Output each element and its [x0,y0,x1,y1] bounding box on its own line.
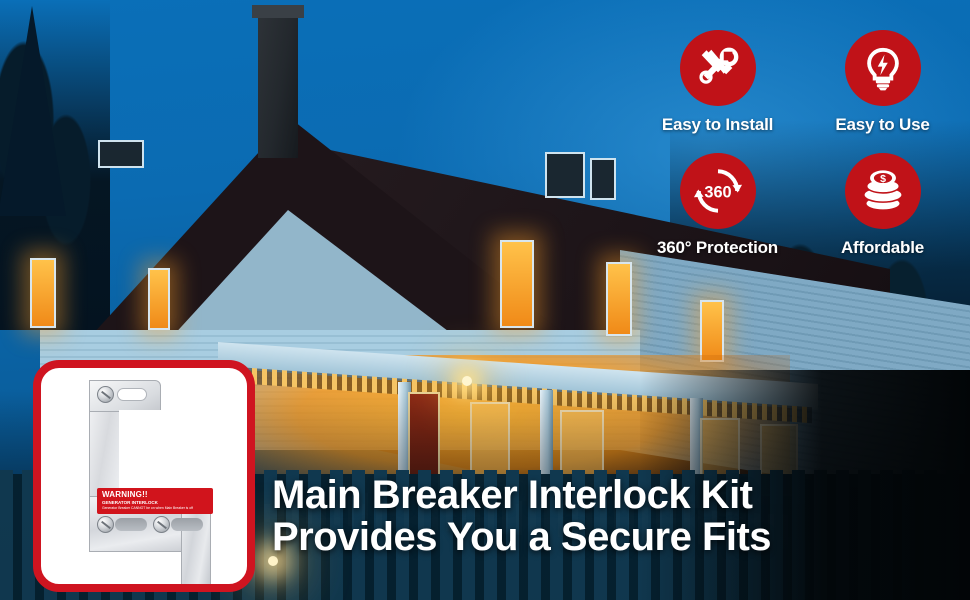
badge-circle [680,30,756,106]
screwdriver-wrench-icon [695,45,741,91]
mounting-screw [97,386,114,403]
chimney [258,8,298,158]
lit-window [500,240,534,328]
attic-window [590,158,616,200]
badge-label: Easy to Use [835,115,929,135]
warning-label: WARNING!! GENERATOR INTERLOCK Generator … [97,488,213,514]
coin-stack-icon: $ [859,167,907,215]
warning-title: WARNING!! [102,491,208,499]
lit-window [606,262,632,336]
mounting-screw [153,516,170,533]
lit-window [700,300,724,362]
product-banner: Easy to Install Easy to Use [0,0,970,600]
badge-label: Easy to Install [662,115,773,135]
badge-label: 360° Protection [657,238,778,258]
mounting-screw [97,516,114,533]
feature-badge-360-protection: 360 360° Protection [640,153,795,258]
feature-badge-easy-to-install: Easy to Install [640,30,795,135]
chimney-cap [252,5,304,18]
svg-text:360: 360 [704,184,731,202]
badge-circle: $ [845,153,921,229]
interlock-plate-image: WARNING!! GENERATOR INTERLOCK Generator … [41,368,247,584]
badge-circle: 360 [680,153,756,229]
warning-body: Generator Breaker CANNOT be on when Main… [102,506,208,510]
headline: Main Breaker Interlock Kit Provides You … [272,474,952,559]
porch-lamp [462,376,472,386]
svg-text:$: $ [880,173,886,185]
plate-slot [115,518,147,531]
360-rotation-icon: 360 [693,166,743,216]
badge-label: Affordable [841,238,924,258]
attic-window [98,140,144,168]
lit-window [30,258,56,328]
feature-badge-easy-to-use: Easy to Use [805,30,960,135]
headline-line-1: Main Breaker Interlock Kit [272,473,753,517]
lightbulb-icon [860,45,906,91]
badge-circle [845,30,921,106]
lit-window [148,268,170,330]
plate-slot [117,388,147,401]
feature-badge-grid: Easy to Install Easy to Use [640,30,960,258]
feature-badge-affordable: $ Affordable [805,153,960,258]
product-image-card: WARNING!! GENERATOR INTERLOCK Generator … [33,360,255,592]
attic-window [545,152,585,198]
plate-slot [171,518,203,531]
headline-line-2: Provides You a Secure Fits [272,516,952,558]
